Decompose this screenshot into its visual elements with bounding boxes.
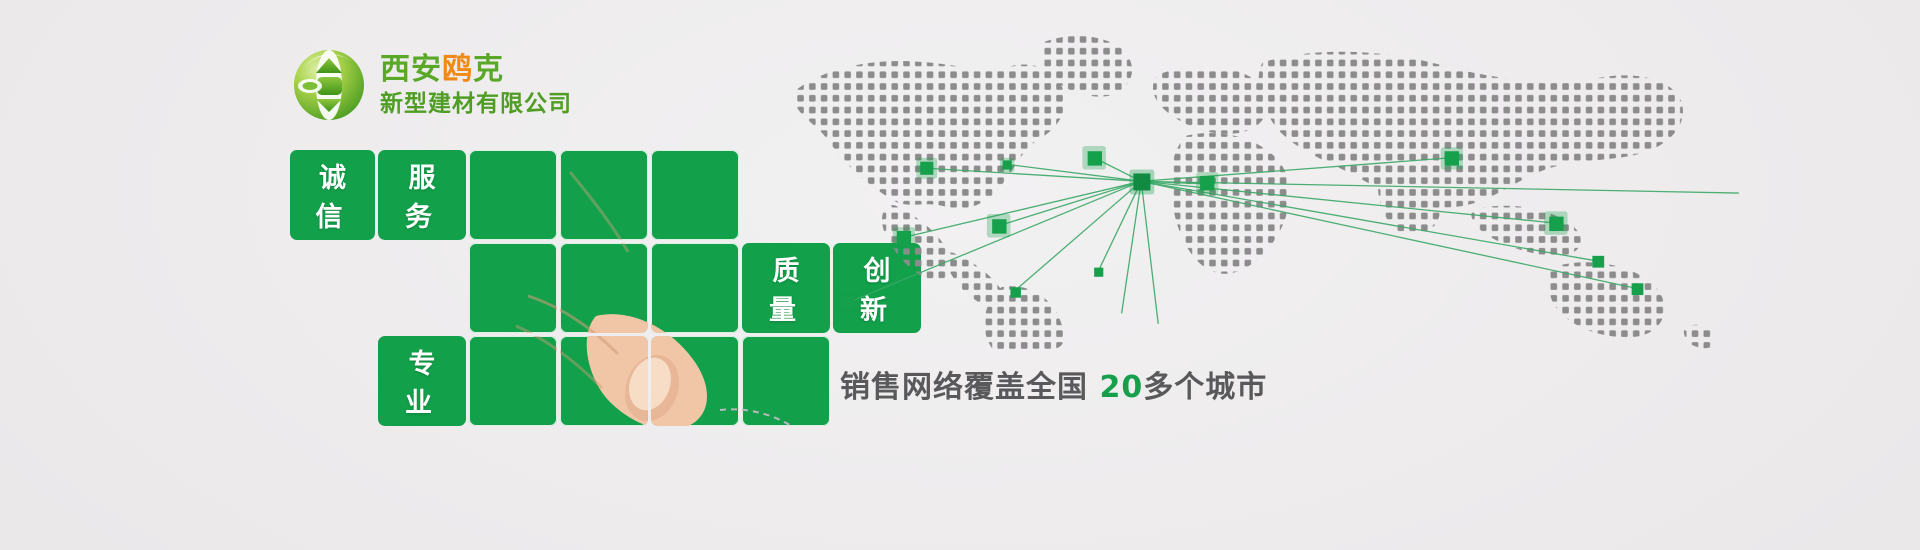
logo-text-ke: 克 [473, 52, 504, 87]
globe-leaf-logo-icon [292, 48, 366, 122]
value-tile-10: 专 业 [378, 336, 466, 426]
handshake-photo-fragment [651, 243, 739, 333]
logo-text-ou: 鸥 [442, 52, 473, 87]
photo-tile-2 [469, 150, 557, 240]
tagline-lead: 销售网络覆盖全国 [840, 370, 1088, 405]
photo-tile-4 [651, 150, 739, 240]
photo-tile-7 [651, 243, 739, 333]
photo-tile-11 [469, 336, 557, 426]
handshake-photo-fragment [651, 336, 739, 426]
photo-tile-5 [469, 243, 557, 333]
dotted-world-map [735, 10, 1775, 350]
handshake-photo-fragment [560, 336, 648, 426]
tagline-tail: 多个城市 [1143, 370, 1267, 405]
tagline-city-count: 20 [1099, 370, 1143, 405]
handshake-photo-fragment [651, 150, 739, 240]
value-tile-1: 服 务 [378, 150, 466, 240]
value-tile-label: 专 业 [378, 342, 466, 420]
photo-tile-6 [560, 243, 648, 333]
company-logo[interactable]: 西安鸥克 新型建材有限公司 [292, 48, 572, 122]
handshake-photo-fragment [469, 243, 557, 333]
sales-network-tagline: 销售网络覆盖全国 20多个城市 [840, 362, 1267, 406]
logo-company-full: 新型建材有限公司 [380, 93, 572, 116]
photo-tile-12 [560, 336, 648, 426]
network-hub-node [1129, 170, 1154, 195]
handshake-photo-fragment [560, 150, 648, 240]
photo-tile-3 [560, 150, 648, 240]
value-tile-0: 诚 信 [290, 150, 375, 240]
handshake-photo-fragment [469, 336, 557, 426]
value-tile-label: 诚 信 [290, 156, 375, 234]
handshake-photo-fragment [469, 150, 557, 240]
logo-text-xian: 西安 [380, 52, 442, 87]
value-tile-label: 服 务 [378, 156, 466, 234]
logo-text-block: 西安鸥克 新型建材有限公司 [380, 55, 572, 116]
handshake-photo-fragment [560, 243, 648, 333]
logo-company-short: 西安鸥克 [380, 55, 572, 85]
photo-tile-13 [651, 336, 739, 426]
promo-banner: 西安鸥克 新型建材有限公司 [0, 0, 1920, 550]
